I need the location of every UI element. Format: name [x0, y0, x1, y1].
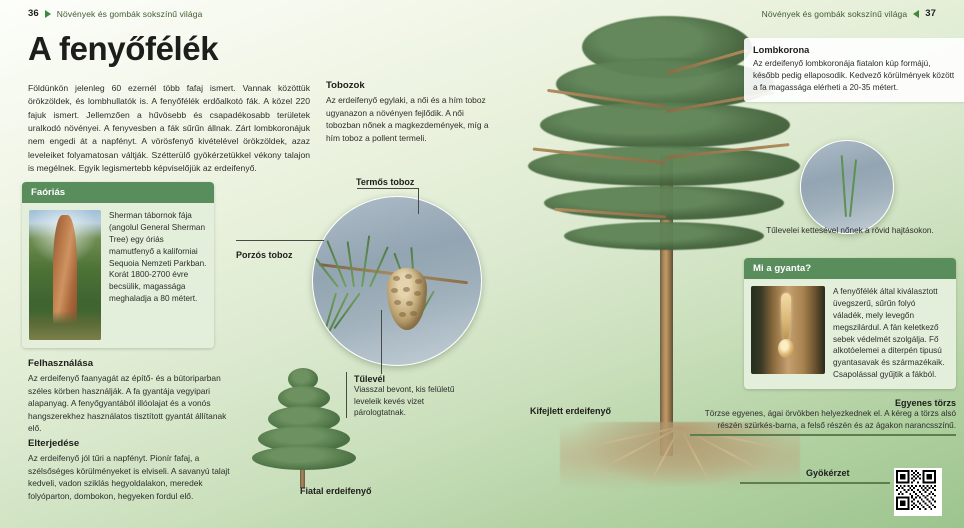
- leader-line: [740, 482, 890, 484]
- pine-cone-magnifier: [312, 196, 482, 366]
- box-lombkorona: Lombkorona Az erdeifenyő lombkoronája fi…: [744, 38, 964, 102]
- page-number-left: 36: [28, 8, 39, 19]
- label-tulevel: Tűlevél: [354, 374, 474, 384]
- label-porzos-toboz: Porzós toboz: [236, 250, 293, 260]
- section-felhasznalasa-title: Felhasználása: [28, 358, 234, 369]
- young-scots-pine-illustration: [248, 352, 358, 492]
- card-mi-a-gyanta: Mi a gyanta? A fenyőfélék által kiválasz…: [744, 258, 956, 389]
- female-pine-cone: [387, 268, 427, 330]
- section-elterjedese-text: Az erdeifenyő jól tűri a napfényt. Pioní…: [28, 452, 234, 502]
- crown-layer: [540, 102, 790, 148]
- leader-line: [690, 434, 956, 436]
- needle: [369, 246, 389, 287]
- crown-layer: [564, 222, 764, 250]
- label-fiatal-erdeifenyo: Fiatal erdeifenyő: [300, 486, 372, 496]
- young-crown-layer: [252, 446, 356, 470]
- running-head-left-label: Növények és gombák sokszínű világa: [57, 9, 203, 19]
- text-tulevel: Viasszal bevont, kis felületű leveleik k…: [354, 384, 474, 419]
- giant-sequoia-photo: [29, 210, 101, 340]
- label-egyenes-torzs: Egyenes törzs: [690, 398, 956, 408]
- leader-line: [381, 310, 382, 374]
- callout-egyenes-torzs: Egyenes törzs Törzse egyenes, ágai örvök…: [690, 398, 956, 431]
- caption-needle-detail: Tűlevelei kettesével nőnek a rövid hajtá…: [744, 225, 956, 237]
- tree-resin-photo: [751, 286, 825, 374]
- section-tobozok-text: Az erdeifenyő egylaki, a női és a hím to…: [326, 94, 496, 144]
- callout-tulevel: Tűlevél Viasszal bevont, kis felületű le…: [354, 374, 474, 419]
- section-felhasznalasa-text: Az erdeifenyő faanyagát az építő- és a b…: [28, 372, 234, 435]
- pine-needle-magnifier: [800, 140, 894, 234]
- box-lombkorona-title: Lombkorona: [753, 45, 957, 55]
- needle: [841, 155, 847, 217]
- card-faorias-title: Faóriás: [22, 182, 214, 203]
- section-felhasznalasa: Felhasználása Az erdeifenyő faanyagát az…: [28, 358, 234, 435]
- intro-paragraph: Földünkön jelenleg 60 ezernél több fafaj…: [28, 82, 310, 175]
- page-title: A fenyőfélék: [28, 30, 218, 68]
- needle: [849, 159, 857, 217]
- section-elterjedese: Elterjedése Az erdeifenyő jól tűri a nap…: [28, 438, 234, 502]
- caption-needle-detail-text: Tűlevelei kettesével nőnek a rövid hajtá…: [744, 225, 956, 237]
- arrow-right-icon: [45, 10, 51, 18]
- page-number-right: 37: [925, 8, 936, 19]
- callout-gyokerzet: Gyökérzet: [806, 463, 850, 481]
- leader-line: [357, 188, 419, 189]
- leader-line: [236, 240, 324, 241]
- qr-code[interactable]: [894, 468, 942, 516]
- label-termos-toboz: Termős toboz: [356, 177, 414, 187]
- label-kifejlett-erdeifenyo: Kifejlett erdeifenyő: [530, 406, 611, 416]
- callout-porzos-toboz: Porzós toboz: [236, 245, 293, 263]
- needle: [361, 235, 370, 287]
- card-mi-a-gyanta-title: Mi a gyanta?: [744, 258, 956, 279]
- callout-kifejlett-erdeifenyo: Kifejlett erdeifenyő: [530, 401, 611, 419]
- label-gyokerzet: Gyökérzet: [806, 468, 850, 478]
- section-tobozok: Tobozok Az erdeifenyő egylaki, a női és …: [326, 80, 496, 144]
- card-faorias-text: Sherman tábornok fája (angolul General S…: [109, 210, 207, 340]
- arrow-left-icon: [913, 10, 919, 18]
- running-head-left: 36 Növények és gombák sokszínű világa: [28, 8, 202, 19]
- leader-line: [418, 188, 419, 214]
- needle: [347, 241, 355, 287]
- card-mi-a-gyanta-text: A fenyőfélék által kiválasztott üvegszer…: [833, 286, 948, 381]
- card-faorias: Faóriás Sherman tábornok fája (angolul G…: [22, 182, 214, 348]
- textbook-spread: 36 Növények és gombák sokszínű világa Nö…: [0, 0, 964, 528]
- leader-line: [346, 372, 347, 418]
- qr-code-icon: [896, 470, 936, 510]
- box-lombkorona-text: Az erdeifenyő lombkoronája fiatalon kúp …: [753, 58, 957, 94]
- section-tobozok-title: Tobozok: [326, 80, 496, 91]
- text-egyenes-torzs: Törzse egyenes, ágai örvökben helyezkedn…: [690, 408, 956, 431]
- callout-fiatal-erdeifenyo: Fiatal erdeifenyő: [300, 481, 372, 499]
- section-elterjedese-title: Elterjedése: [28, 438, 234, 449]
